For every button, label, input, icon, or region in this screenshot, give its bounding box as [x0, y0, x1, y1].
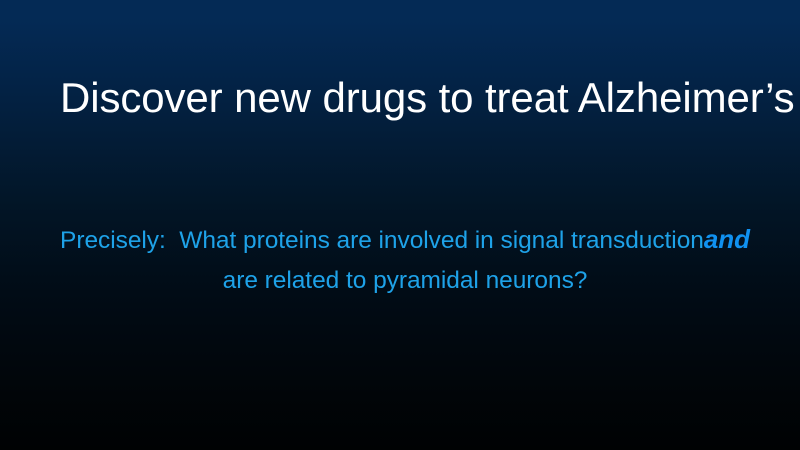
- presentation-slide: Discover new drugs to treat Alzheimer’s …: [0, 0, 800, 450]
- body-emphasis-and: and: [704, 224, 750, 254]
- page-title: Discover new drugs to treat Alzheimer’s: [60, 74, 750, 121]
- body-line-two: are related to pyramidal neurons?: [223, 267, 588, 294]
- slide-body-placeholder: Precisely: What proteins are involved in…: [60, 218, 750, 300]
- body-paragraph: Precisely: What proteins are involved in…: [60, 218, 750, 300]
- body-lead-label: Precisely:: [60, 227, 166, 254]
- body-line-one: What proteins are involved in signal tra…: [166, 227, 704, 254]
- slide-title-placeholder: Discover new drugs to treat Alzheimer’s: [60, 74, 750, 121]
